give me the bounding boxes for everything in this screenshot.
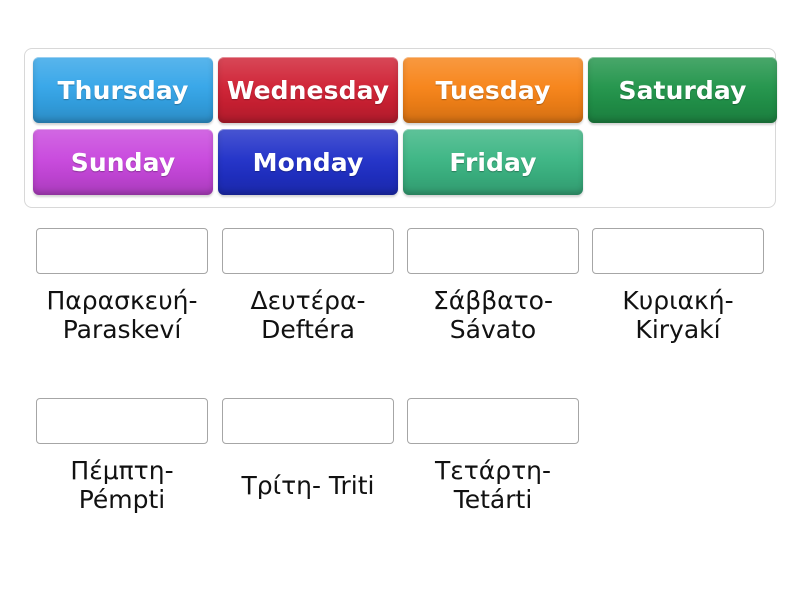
dropzone-kiryaki[interactable]	[592, 228, 764, 274]
draggable-tile[interactable]: Wednesday	[218, 57, 398, 123]
tile-tray-row-2: Sunday Monday Friday	[33, 129, 777, 195]
dropzone-savato[interactable]	[407, 228, 579, 274]
dropzone-triti[interactable]	[222, 398, 394, 444]
answer-grid-row-2: Πέμπτη-Pémpti Τρίτη- Triti Τετάρτη-Tetár…	[24, 398, 776, 558]
draggable-tile[interactable]: Saturday	[588, 57, 777, 123]
answer-slot: Πέμπτη-Pémpti	[36, 398, 208, 519]
tile-label: Tuesday	[436, 76, 551, 105]
answer-slot: Σάββατο-Sávato	[407, 228, 579, 349]
tile-label: Friday	[449, 148, 536, 177]
answer-slot-label: Κυριακή-Kiryakí	[592, 281, 764, 349]
tile-tray: Thursday Wednesday Tuesday Saturday Sund…	[24, 48, 776, 208]
answer-slot-label: Τετάρτη-Tetárti	[407, 451, 579, 519]
answer-slot-label: Δευτέρα-Deftéra	[222, 281, 394, 349]
activity-root: Thursday Wednesday Tuesday Saturday Sund…	[0, 0, 800, 600]
answer-slot-label: Σάββατο-Sávato	[407, 281, 579, 349]
tile-label: Wednesday	[227, 76, 389, 105]
dropzone-deftera[interactable]	[222, 228, 394, 274]
answer-slot: Δευτέρα-Deftéra	[222, 228, 394, 349]
tile-label: Thursday	[58, 76, 189, 105]
tile-label: Sunday	[71, 148, 176, 177]
answer-slot-label: Πέμπτη-Pémpti	[36, 451, 208, 519]
answer-slot-label: Παρασκευή-Paraskeví	[36, 281, 208, 349]
draggable-tile[interactable]: Thursday	[33, 57, 213, 123]
draggable-tile[interactable]: Friday	[403, 129, 583, 195]
dropzone-tetarti[interactable]	[407, 398, 579, 444]
draggable-tile[interactable]: Monday	[218, 129, 398, 195]
tile-tray-row-1: Thursday Wednesday Tuesday Saturday	[33, 57, 777, 123]
answer-slot: Τρίτη- Triti	[222, 398, 394, 519]
answer-grid-row-1: Παρασκευή-Paraskeví Δευτέρα-Deftéra Σάββ…	[24, 228, 776, 388]
dropzone-paraskevi[interactable]	[36, 228, 208, 274]
tile-label: Monday	[253, 148, 364, 177]
answer-slot: Τετάρτη-Tetárti	[407, 398, 579, 519]
answer-slot: Κυριακή-Kiryakí	[592, 228, 764, 349]
draggable-tile[interactable]: Tuesday	[403, 57, 583, 123]
answer-slot-label: Τρίτη- Triti	[222, 451, 394, 519]
tile-label: Saturday	[618, 76, 746, 105]
draggable-tile[interactable]: Sunday	[33, 129, 213, 195]
dropzone-pempti[interactable]	[36, 398, 208, 444]
answer-slot: Παρασκευή-Paraskeví	[36, 228, 208, 349]
